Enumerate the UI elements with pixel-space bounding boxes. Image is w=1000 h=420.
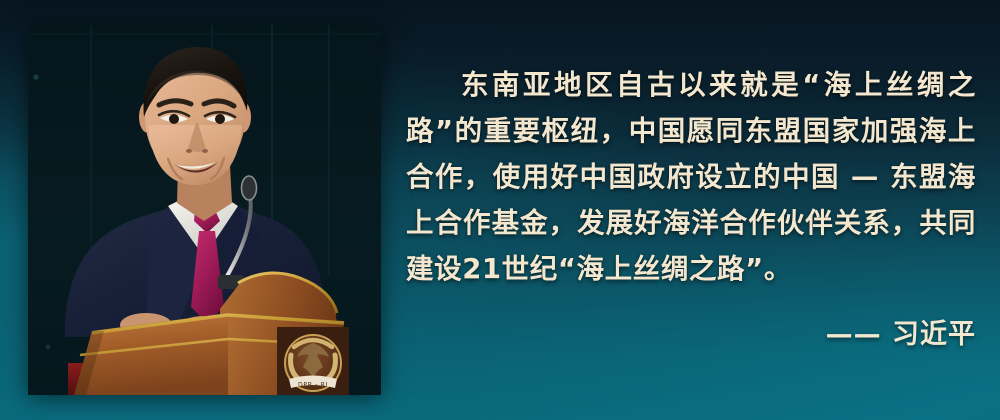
backdrop-light-dot-1 — [33, 74, 38, 79]
speaker-photo-illustration: DPR - RI — [28, 25, 381, 395]
pupil-left — [169, 114, 179, 124]
quote-card: DPR - RI 东南亚地区自古以来就是“海上丝绸之路”的重要枢纽，中国愿同东盟… — [0, 0, 1000, 420]
pupil-right — [215, 114, 225, 124]
backdrop-light-dot-2 — [46, 345, 50, 349]
quote-block: 东南亚地区自古以来就是“海上丝绸之路”的重要枢纽，中国愿同东盟国家加强海上合作，… — [406, 62, 976, 352]
nostril-right — [202, 149, 208, 153]
speaker-photo: DPR - RI — [28, 25, 381, 395]
emblem-ribbon-text: DPR - RI — [298, 382, 328, 389]
microphone-head — [242, 176, 257, 200]
quote-text: 东南亚地区自古以来就是“海上丝绸之路”的重要枢纽，中国愿同东盟国家加强海上合作，… — [406, 62, 976, 292]
quote-attribution: —— 习近平 — [406, 318, 976, 352]
nostril-left — [186, 149, 192, 153]
